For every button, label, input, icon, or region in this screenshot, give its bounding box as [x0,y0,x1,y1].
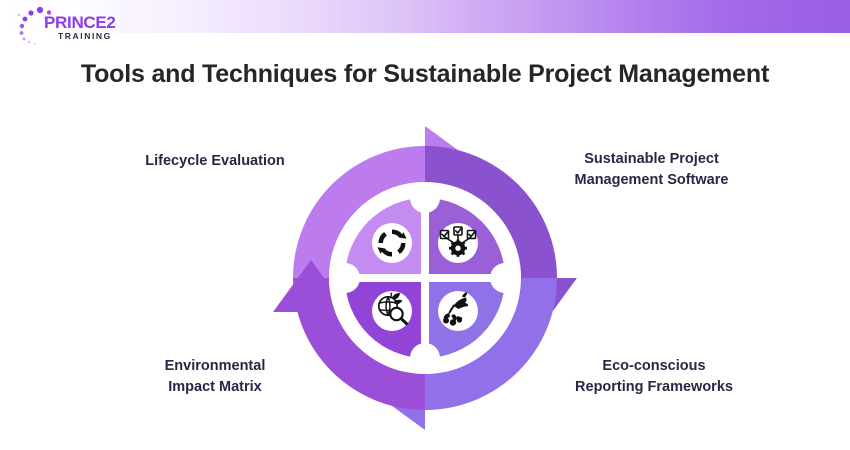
label-line-2: Impact Matrix [112,377,318,398]
logo-brand-text: PRINCE2 [44,14,116,31]
label-line-2: Reporting Frameworks [548,377,760,398]
icon-badge-sustainable-software[interactable] [438,223,478,263]
header-gradient-bar [0,0,850,33]
icon-badge-eco-reporting[interactable] [438,291,478,331]
label-sustainable-software: Sustainable Project Management Software [545,149,758,191]
label-lifecycle-evaluation: Lifecycle Evaluation [108,151,322,172]
label-line-1: Environmental [112,356,318,377]
prince2-training-logo[interactable]: PRINCE2 TRAINING [16,4,126,48]
label-line-1: Sustainable Project [545,149,758,170]
label-environmental-impact-matrix: Environmental Impact Matrix [112,356,318,398]
icon-badge-environmental-impact[interactable] [372,291,412,331]
label-line-2: Management Software [545,170,758,191]
logo-subtitle-text: TRAINING [58,32,112,41]
label-eco-conscious-reporting: Eco-conscious Reporting Frameworks [548,356,760,398]
label-line-1: Eco-conscious [548,356,760,377]
page-title: Tools and Techniques for Sustainable Pro… [0,60,850,89]
icon-badge-lifecycle-evaluation[interactable] [372,223,412,263]
label-line: Lifecycle Evaluation [145,153,284,169]
